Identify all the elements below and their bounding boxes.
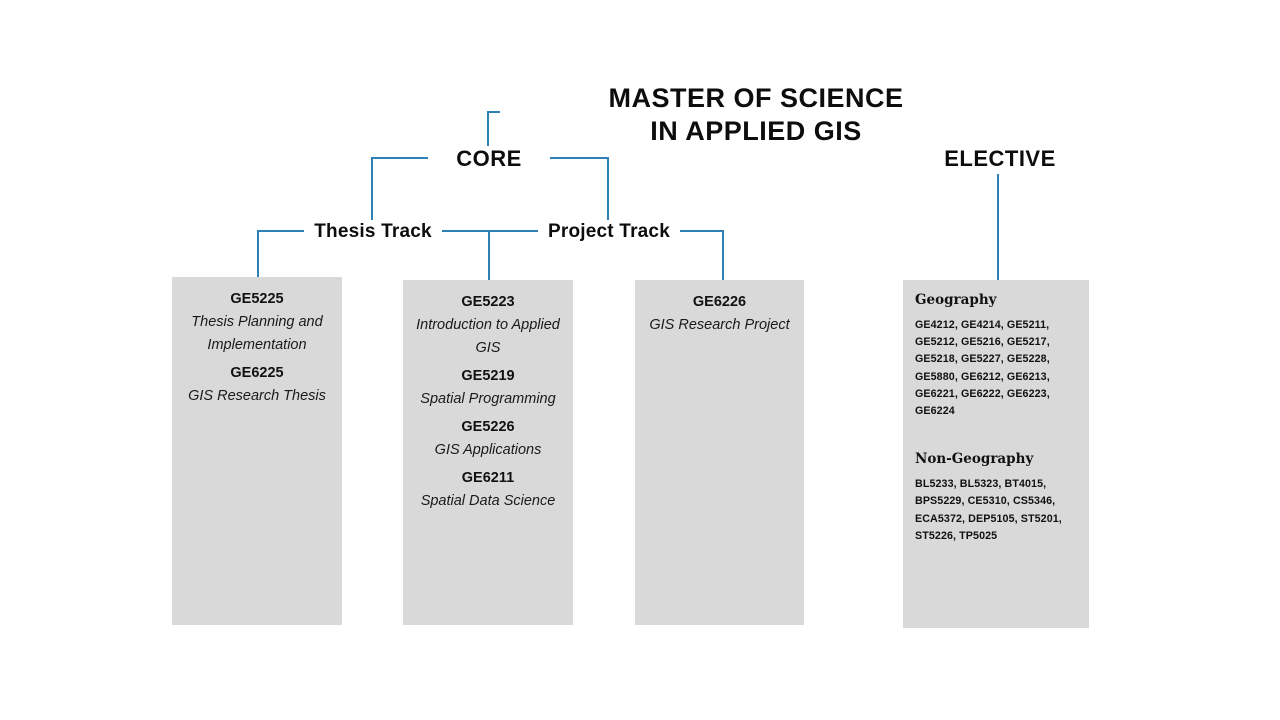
course-code: GE5223 [411, 290, 565, 314]
course-code: GE5226 [411, 415, 565, 439]
node-project-track: Project Track [538, 220, 680, 244]
course-name: Spatial Data Science [411, 490, 565, 513]
connector-down-to-project-box [488, 230, 490, 281]
course-name: Thesis Planning and Implementation [180, 311, 334, 357]
connector-down-to-elective-box [997, 174, 999, 282]
root-title-line2: IN APPLIED GIS [500, 115, 1012, 148]
course-name: Spatial Programming [411, 388, 565, 411]
elective-content: Geography GE4212, GE4214, GE5211, GE5212… [903, 280, 1089, 545]
program-structure-diagram: MASTER OF SCIENCE IN APPLIED GIS CORE EL… [0, 0, 1280, 720]
elective-non-geography-codes: BL5233, BL5323, BT4015, BPS5229, CE5310,… [915, 476, 1079, 545]
course-name: GIS Research Project [643, 314, 796, 337]
page-title: MASTER OF SCIENCE IN APPLIED GIS [500, 82, 1012, 148]
elective-spacer [915, 420, 1079, 450]
node-thesis-track: Thesis Track [304, 220, 442, 244]
connector-down-to-thesis-box [257, 230, 259, 278]
project-track-course-box: GE5223 Introduction to Applied GIS GE521… [403, 280, 573, 625]
capstone-course-list: GE6226 GIS Research Project [635, 280, 804, 337]
thesis-track-course-box: GE5225 Thesis Planning and Implementatio… [172, 277, 342, 625]
thesis-course-list: GE5225 Thesis Planning and Implementatio… [172, 277, 342, 408]
course-name: Introduction to Applied GIS [411, 314, 565, 360]
project-course-list: GE5223 Introduction to Applied GIS GE521… [403, 280, 573, 513]
node-core: CORE [428, 146, 550, 172]
course-code: GE5219 [411, 364, 565, 388]
connector-project-track-right-arm [675, 230, 723, 232]
elective-geography-codes: GE4212, GE4214, GE5211, GE5212, GE5216, … [915, 317, 1079, 420]
root-title-line1: MASTER OF SCIENCE [500, 82, 1012, 115]
course-name: GIS Applications [411, 439, 565, 462]
course-code: GE6211 [411, 466, 565, 490]
connector-thesis-box-inlet [257, 230, 307, 232]
course-code: GE6226 [643, 290, 796, 314]
connector-down-to-capstone-box [722, 230, 724, 281]
elective-non-geography-heading: Non-Geography [915, 450, 1079, 468]
research-project-course-box: GE6226 GIS Research Project [635, 280, 804, 625]
course-code: GE5225 [180, 287, 334, 311]
course-name: GIS Research Thesis [180, 385, 334, 408]
course-code: GE6225 [180, 361, 334, 385]
node-elective: ELECTIVE [930, 146, 1070, 172]
elective-geography-heading: Geography [915, 291, 1079, 309]
elective-course-box: Geography GE4212, GE4214, GE5211, GE5212… [903, 280, 1089, 628]
